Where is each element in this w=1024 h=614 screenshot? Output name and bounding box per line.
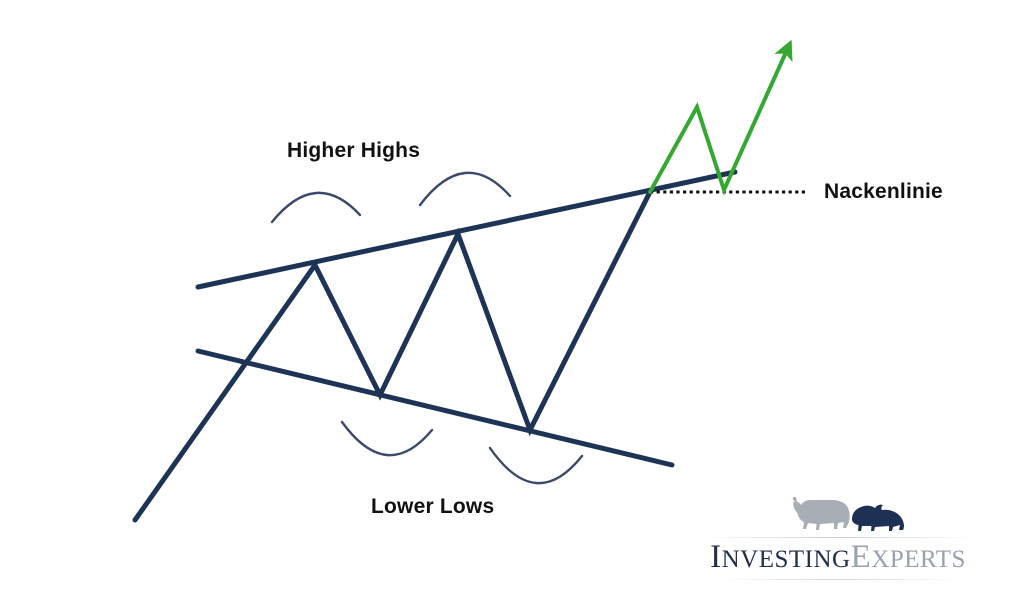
trough-arc-1 bbox=[342, 422, 432, 455]
logo-cap-e: E bbox=[851, 539, 872, 575]
lower-lows-label: Lower Lows bbox=[371, 495, 494, 519]
higher-highs-label: Higher Highs bbox=[287, 139, 420, 163]
logo-rest-investing: NVESTING bbox=[722, 546, 851, 573]
bear-icon bbox=[852, 505, 904, 531]
brand-logo: INVESTINGEXPERTS bbox=[676, 495, 1000, 587]
neckline-label: Nackenlinie bbox=[824, 180, 943, 204]
logo-cap-i: I bbox=[710, 539, 722, 575]
bull-icon bbox=[793, 497, 850, 530]
logo-rest-experts: XPERTS bbox=[871, 546, 966, 573]
peak-arc-2 bbox=[420, 173, 510, 205]
logo-divider-bottom bbox=[716, 579, 960, 580]
peak-arc-1 bbox=[272, 193, 360, 222]
chart-canvas: Higher Highs Lower Lows Nackenlinie INVE… bbox=[0, 0, 1024, 614]
trough-arc-2 bbox=[490, 448, 582, 483]
breakout-path bbox=[650, 50, 787, 192]
lower-trendline bbox=[198, 351, 672, 465]
logo-word-investing: INVESTING bbox=[710, 539, 851, 575]
logo-word-experts: EXPERTS bbox=[851, 539, 966, 575]
upper-trendline bbox=[198, 172, 735, 287]
logo-wordmark: INVESTINGEXPERTS bbox=[676, 537, 1000, 580]
bull-and-bear-icon bbox=[780, 495, 908, 537]
